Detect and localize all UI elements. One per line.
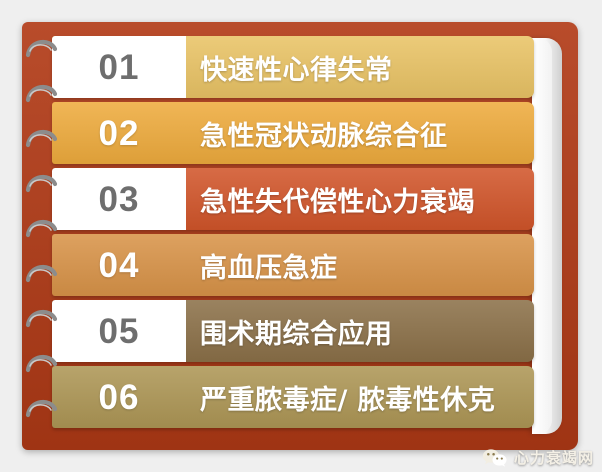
topic-number-cell: 06 [52, 366, 186, 428]
topic-number-cell: 05 [52, 300, 186, 362]
topic-label-cell: 快速性心律失常 [186, 36, 534, 98]
notebook-card: 01快速性心律失常02急性冠状动脉综合征03急性失代偿性心力衰竭04高血压急症0… [22, 22, 578, 450]
topic-row-03[interactable]: 03急性失代偿性心力衰竭 [52, 168, 534, 230]
topic-number-cell: 01 [52, 36, 186, 98]
topic-number-cell: 03 [52, 168, 186, 230]
topic-label-cell: 严重脓毒症/ 脓毒性休克 [186, 366, 534, 428]
page-edge-inner [534, 38, 552, 434]
topic-label-cell: 急性失代偿性心力衰竭 [186, 168, 534, 230]
topic-number: 04 [99, 248, 140, 283]
topic-number-cell: 02 [52, 102, 186, 164]
wechat-icon [482, 448, 508, 468]
watermark: 心力衰竭网 [482, 447, 594, 468]
topic-number: 01 [99, 50, 140, 85]
topic-label: 严重脓毒症/ 脓毒性休克 [200, 378, 495, 417]
topic-row-04[interactable]: 04高血压急症 [52, 234, 534, 296]
watermark-text: 心力衰竭网 [514, 447, 594, 468]
topic-label-cell: 高血压急症 [186, 234, 534, 296]
topic-row-02[interactable]: 02急性冠状动脉综合征 [52, 102, 534, 164]
topic-number: 06 [99, 380, 140, 415]
topic-number: 05 [99, 314, 140, 349]
topic-list: 01快速性心律失常02急性冠状动脉综合征03急性失代偿性心力衰竭04高血压急症0… [52, 36, 534, 436]
topic-label: 急性失代偿性心力衰竭 [200, 180, 475, 219]
topic-label-cell: 急性冠状动脉综合征 [186, 102, 534, 164]
topic-label: 快速性心律失常 [200, 48, 393, 87]
topic-label-cell: 围术期综合应用 [186, 300, 534, 362]
topic-label: 高血压急症 [200, 246, 338, 285]
topic-row-06[interactable]: 06严重脓毒症/ 脓毒性休克 [52, 366, 534, 428]
topic-row-05[interactable]: 05围术期综合应用 [52, 300, 534, 362]
topic-number: 03 [99, 182, 140, 217]
topic-row-01[interactable]: 01快速性心律失常 [52, 36, 534, 98]
topic-label: 急性冠状动脉综合征 [200, 114, 448, 153]
topic-number-cell: 04 [52, 234, 186, 296]
topic-number: 02 [99, 116, 140, 151]
topic-label: 围术期综合应用 [200, 312, 393, 351]
